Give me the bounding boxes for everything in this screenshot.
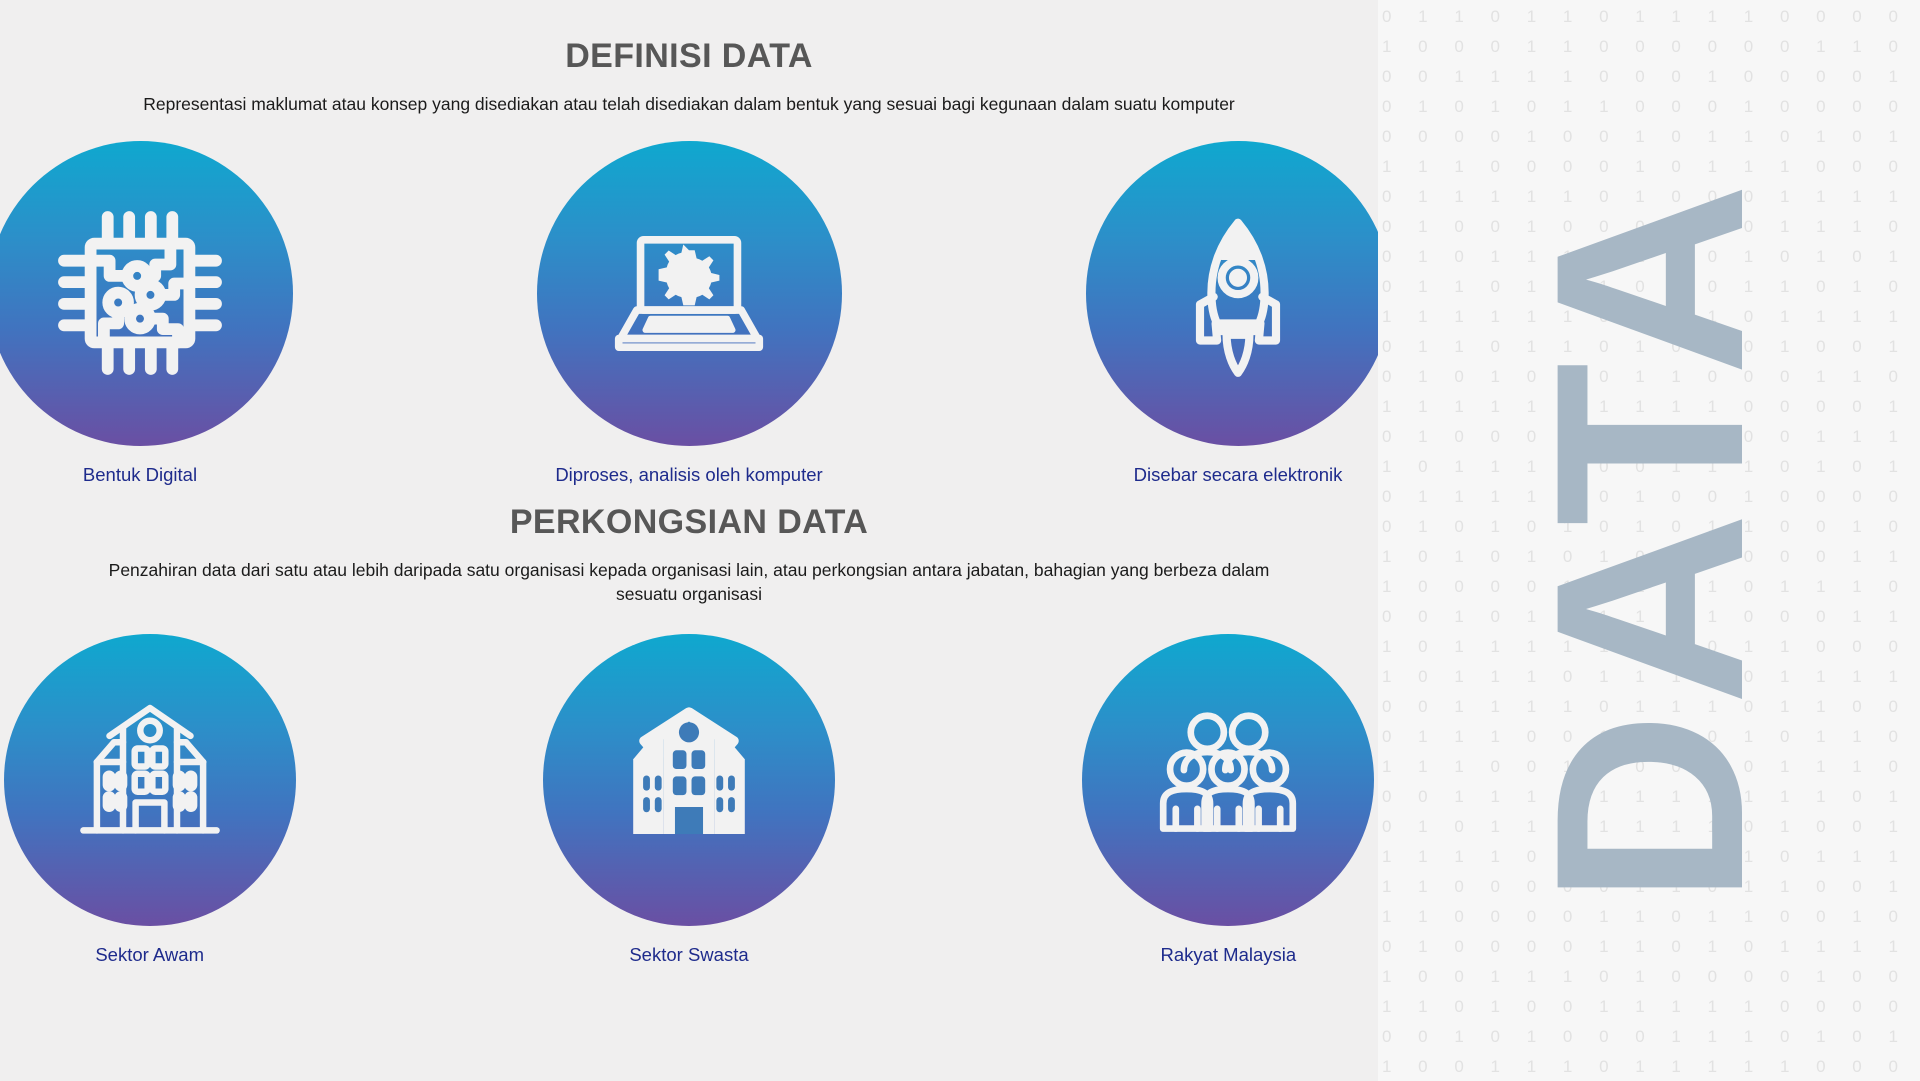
icon-circle-sektor-awam: [4, 634, 296, 926]
government-building-solid-icon: [599, 690, 779, 870]
data-watermark-text: DATA: [1515, 176, 1783, 905]
icon-circle-sektor-swasta: [543, 634, 835, 926]
icon-circle-bentuk-digital: [0, 141, 293, 446]
icon-caption-diproses-komputer: Diproses, analisis oleh komputer: [555, 464, 822, 486]
icon-caption-sektor-awam: Sektor Awam: [95, 944, 204, 966]
icon-cell-diproses-komputer[interactable]: Diproses, analisis oleh komputer: [537, 141, 842, 486]
infographic-slide: DEFINISI DATA Representasi maklumat atau…: [0, 0, 1920, 1081]
icon-cell-bentuk-digital[interactable]: Bentuk Digital: [0, 141, 293, 486]
icon-caption-disebar-elektronik: Disebar secara elektronik: [1134, 464, 1343, 486]
icon-cell-disebar-elektronik[interactable]: Disebar secara elektronik: [1086, 141, 1391, 486]
section-perkongsian-data: PERKONGSIAN DATA Penzahiran data dari sa…: [0, 504, 1378, 966]
icon-cell-sektor-swasta[interactable]: Sektor Swasta: [539, 634, 838, 966]
icon-row-perkongsian: Sektor Awam: [0, 634, 1378, 966]
section-definisi-data: DEFINISI DATA Representasi maklumat atau…: [0, 38, 1378, 486]
icon-caption-rakyat-malaysia: Rakyat Malaysia: [1160, 944, 1296, 966]
icon-caption-bentuk-digital: Bentuk Digital: [83, 464, 197, 486]
government-building-outline-icon: [60, 690, 240, 870]
rocket-icon: [1143, 198, 1333, 388]
icon-caption-sektor-swasta: Sektor Swasta: [629, 944, 748, 966]
content-area: DEFINISI DATA Representasi maklumat atau…: [0, 0, 1378, 1081]
laptop-gear-icon: [594, 198, 784, 388]
people-group-icon: [1138, 690, 1318, 870]
icon-cell-rakyat-malaysia[interactable]: Rakyat Malaysia: [1079, 634, 1378, 966]
icon-circle-disebar-elektronik: [1086, 141, 1391, 446]
section-description-perkongsian: Penzahiran data dari satu atau lebih dar…: [82, 559, 1297, 606]
section-title-definisi: DEFINISI DATA: [0, 38, 1378, 75]
section-description-definisi: Representasi maklumat atau konsep yang d…: [99, 93, 1279, 116]
icon-circle-diproses-komputer: [537, 141, 842, 446]
microchip-icon: [45, 198, 235, 388]
section-title-perkongsian: PERKONGSIAN DATA: [0, 504, 1378, 541]
icon-circle-rakyat-malaysia: [1082, 634, 1374, 926]
icon-cell-sektor-awam[interactable]: Sektor Awam: [0, 634, 299, 966]
side-panel: 0 1 1 0 1 1 0 1 1 1 1 0 0 0 0 1 1 0 0 1 …: [1378, 0, 1920, 1081]
icon-row-definisi: Bentuk Digital: [0, 141, 1378, 486]
